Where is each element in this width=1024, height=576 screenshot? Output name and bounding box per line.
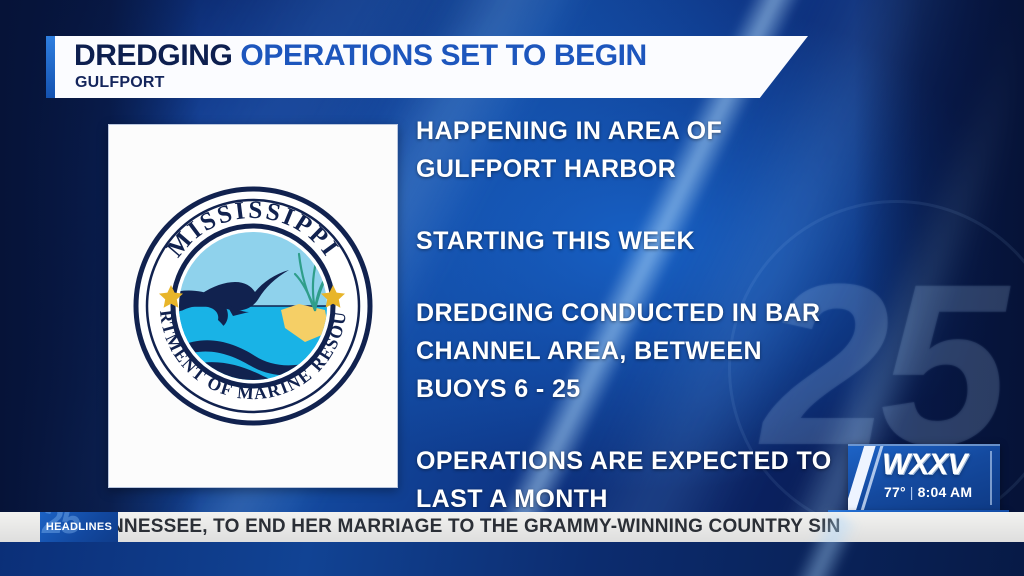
bullet-line: GULFPORT HARBOR — [416, 150, 886, 188]
headline-banner: DREDGING OPERATIONS SET TO BEGIN GULFPOR… — [46, 36, 808, 98]
bullet-line: BUOYS 6 - 25 — [416, 370, 886, 408]
page-title: DREDGING OPERATIONS SET TO BEGIN — [74, 39, 647, 73]
banner-accent-bar — [46, 36, 55, 98]
clock-readout: 8:04 AM — [918, 484, 973, 500]
news-ticker: NNESSEE, TO END HER MARRIAGE TO THE GRAM… — [0, 512, 1024, 542]
mdmr-seal-logo: MISSISSIPPI DEPARTMENT OF MARINE RESOURC… — [129, 182, 377, 430]
bullet-text-block: HAPPENING IN AREA OF GULFPORT HARBOR STA… — [416, 112, 886, 518]
bullet-line: DREDGING CONDUCTED IN BAR — [416, 294, 886, 332]
banner-text-group: DREDGING OPERATIONS SET TO BEGIN GULFPOR… — [74, 39, 647, 92]
bullet-line: OPERATIONS ARE EXPECTED TO — [416, 442, 886, 480]
station-bug-meta: 77°|8:04 AM — [884, 484, 972, 500]
broadcast-graphic: 25 DREDGING OPERATIONS SET TO BEGIN GULF… — [0, 0, 1024, 576]
bullet-line: HAPPENING IN AREA OF — [416, 112, 886, 150]
meta-separator: | — [910, 484, 914, 500]
station-callsign: WXXV — [882, 448, 966, 482]
spacer — [416, 408, 886, 442]
spacer — [416, 260, 886, 294]
station-bug: WXXV 77°|8:04 AM — [848, 444, 1000, 510]
headline-strong: DREDGING — [74, 39, 232, 72]
spacer — [416, 188, 886, 222]
headline-rest: OPERATIONS SET TO BEGIN — [240, 39, 646, 72]
bug-divider — [990, 451, 992, 505]
ticker-text: NNESSEE, TO END HER MARRIAGE TO THE GRAM… — [110, 512, 841, 542]
ticker-lower-band — [0, 542, 1024, 576]
bullet-line: CHANNEL AREA, BETWEEN — [416, 332, 886, 370]
headline-location: GULFPORT — [75, 74, 647, 92]
agency-logo-card: MISSISSIPPI DEPARTMENT OF MARINE RESOURC… — [108, 124, 398, 488]
ticker-badge-label: HEADLINES — [46, 521, 112, 533]
temperature-readout: 77° — [884, 484, 906, 500]
ticker-badge: 25 HEADLINES — [40, 512, 118, 542]
bullet-line: STARTING THIS WEEK — [416, 222, 886, 260]
